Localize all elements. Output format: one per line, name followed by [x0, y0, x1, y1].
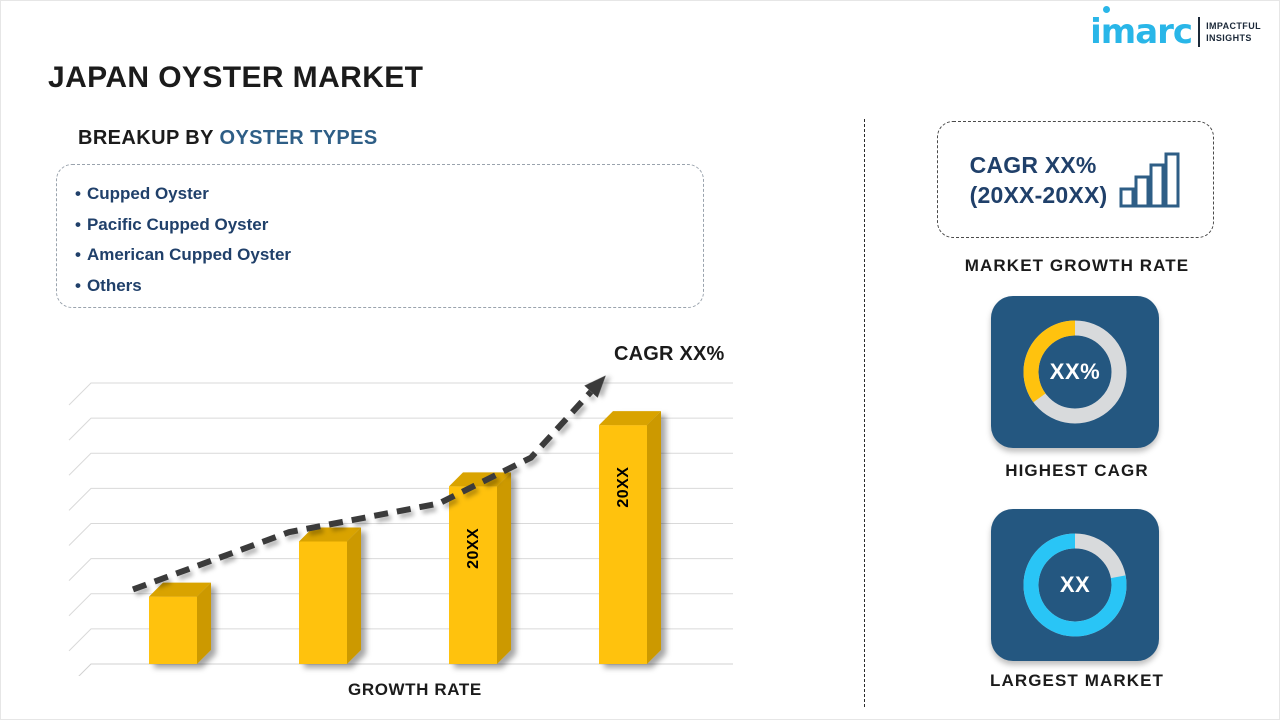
chart-bar-label: 20XX	[615, 467, 632, 508]
cagr-line-1: CAGR XX%	[970, 150, 1108, 180]
imarc-logo: imarc IMPACTFUL INSIGHTS	[1090, 15, 1261, 49]
page-subtitle: BREAKUP BY OYSTER TYPES	[78, 127, 378, 150]
chart-svg: 20XX20XX	[61, 331, 761, 676]
chart-x-axis-label: GROWTH RATE	[348, 680, 482, 700]
largest-market-card: XX	[991, 509, 1159, 661]
logo-divider	[1198, 17, 1200, 47]
chart-trend-line	[133, 369, 612, 589]
largest-market-caption: LARGEST MARKET	[937, 671, 1217, 691]
list-item-label: American Cupped Oyster	[87, 245, 291, 264]
list-item: •Cupped Oyster	[75, 179, 703, 210]
chart-trend-label: CAGR XX%	[614, 343, 725, 366]
list-item-label: Cupped Oyster	[87, 184, 209, 203]
cagr-line-2: (20XX-20XX)	[970, 180, 1108, 210]
largest-market-value: XX	[1060, 572, 1090, 598]
vertical-divider	[864, 119, 865, 707]
list-item: •Others	[75, 271, 703, 302]
list-item: •Pacific Cupped Oyster	[75, 210, 703, 241]
chart-bar-label: 20XX	[465, 528, 482, 569]
list-item-label: Pacific Cupped Oyster	[87, 215, 268, 234]
bullet-icon: •	[75, 245, 81, 264]
bullet-icon: •	[75, 276, 81, 295]
logo-word-text: imarc	[1090, 12, 1192, 52]
subtitle-highlight: OYSTER TYPES	[219, 127, 377, 149]
chart-bar	[149, 583, 211, 664]
chart-bar	[599, 411, 661, 664]
bar-chart-icon	[1119, 152, 1181, 208]
chart-bar	[299, 527, 361, 664]
bullet-icon: •	[75, 184, 81, 203]
oyster-types-box: •Cupped Oyster •Pacific Cupped Oyster •A…	[56, 164, 704, 308]
bullet-icon: •	[75, 215, 81, 234]
list-item-label: Others	[87, 276, 142, 295]
highest-cagr-caption: HIGHEST CAGR	[937, 461, 1217, 481]
list-item: •American Cupped Oyster	[75, 240, 703, 271]
cagr-summary-box: CAGR XX% (20XX-20XX)	[937, 121, 1214, 238]
cagr-text: CAGR XX% (20XX-20XX)	[970, 150, 1108, 210]
subtitle-prefix: BREAKUP BY	[78, 127, 219, 149]
chart-bars: 20XX20XX	[149, 411, 661, 664]
infographic-page: imarc IMPACTFUL INSIGHTS JAPAN OYSTER MA…	[0, 0, 1280, 720]
logo-tagline-line2: INSIGHTS	[1206, 32, 1261, 44]
market-growth-rate-caption: MARKET GROWTH RATE	[937, 256, 1217, 276]
highest-cagr-card: XX%	[991, 296, 1159, 448]
growth-rate-bar-chart: 20XX20XX CAGR XX% GROWTH RATE	[61, 331, 761, 720]
highest-cagr-value: XX%	[1050, 359, 1100, 385]
logo-wordmark: imarc	[1090, 15, 1192, 49]
page-title: JAPAN OYSTER MARKET	[48, 61, 423, 95]
logo-tagline: IMPACTFUL INSIGHTS	[1206, 20, 1261, 44]
logo-tagline-line1: IMPACTFUL	[1206, 20, 1261, 32]
